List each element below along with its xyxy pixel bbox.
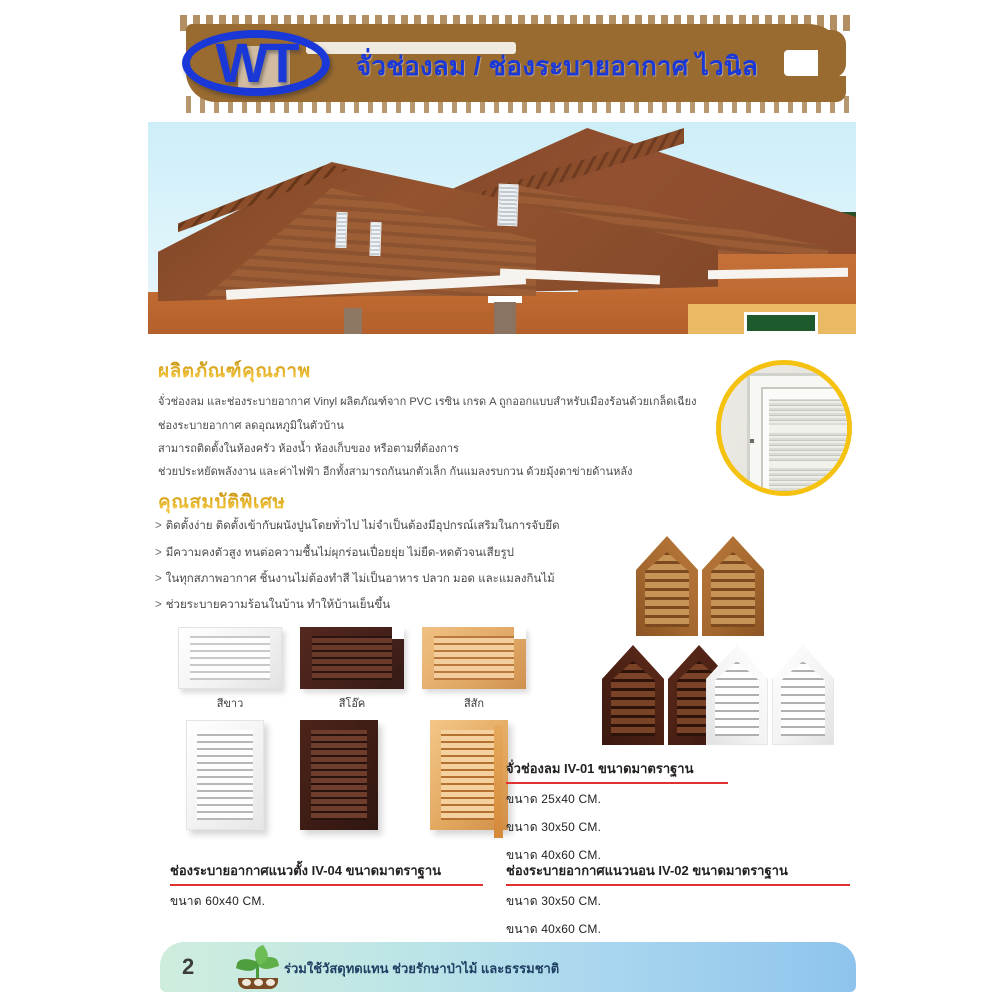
logo-wordmark: WT [174, 34, 338, 92]
vent-louver-slats [434, 636, 514, 680]
quality-line: ช่องระบายอากาศ ลดอุณหภูมิในตัวบ้าน [158, 416, 344, 434]
bullet-icon: > [155, 599, 162, 611]
window [744, 312, 818, 334]
gable-vent-teak [636, 536, 698, 636]
bullet-icon: > [155, 547, 162, 559]
spec-underline [506, 782, 728, 784]
horizontal-vent-white [178, 627, 282, 689]
page-header: จั่วช่องลม / ช่องระบายอากาศ ไวนิล WT [148, 8, 856, 116]
feature-text: ในทุกสภาพอากาศ ชิ้นงานไม่ต้องทำสี ไม่เป็… [166, 573, 555, 585]
quality-line: จั่วช่องลม และช่องระบายอากาศ Vinyl ผลิตภ… [158, 392, 696, 410]
gable-vent-white [772, 645, 834, 745]
swatch-label-teak: สีสัก [422, 694, 526, 712]
spec-block-iv02: ช่องระบายอากาศแนวนอน IV-02 ขนาดมาตราฐาน … [506, 860, 866, 948]
horizontal-vent-teak [422, 627, 526, 689]
installed-vent-rear-gable [497, 184, 518, 227]
spec-title: จั่วช่องลม IV-01 ขนาดมาตราฐาน [506, 758, 756, 782]
feature-text: มีความคงตัวสูง ทนต่อความชื้นไม่ผุกร่อนเป… [166, 547, 514, 559]
soil-pebble [242, 979, 251, 986]
feature-text: ช่วยระบายความร้อนในบ้าน ทำให้บ้านเย็นขึ้… [166, 599, 390, 611]
spec-underline [506, 884, 850, 886]
page-number: 2 [182, 954, 194, 980]
installed-vent-front-gable-right [369, 222, 381, 256]
soil-pebble [254, 979, 263, 986]
swatch-label-white: สีขาว [178, 694, 282, 712]
page-title: จั่วช่องลม / ช่องระบายอากาศ ไวนิล [356, 46, 826, 87]
vent-closeup-inset [716, 360, 852, 496]
vertical-vent-oak [300, 720, 378, 830]
inset-frame-screw [750, 439, 754, 443]
quality-line: สามารถติดตั้งในห้องครัว ห้องน้ำ ห้องเก็บ… [158, 439, 459, 457]
section-heading-quality: ผลิตภัณฑ์คุณภาพ [158, 356, 311, 386]
spec-size-item: ขนาด 30x50 CM. [506, 892, 866, 911]
spec-size-item: ขนาด 30x50 CM. [506, 818, 756, 837]
vent-louver-slats [312, 636, 392, 680]
gable-vent-white [706, 645, 768, 745]
feature-item: >ช่วยระบายความร้อนในบ้าน ทำให้บ้านเย็นขึ… [155, 596, 390, 614]
porch-beam [362, 312, 494, 321]
spec-underline [170, 884, 483, 886]
hero-house-photo [148, 122, 856, 334]
teak-vent-edge-strip [494, 726, 503, 838]
bullet-icon: > [155, 573, 162, 585]
spec-size-item: ขนาด 40x60 CM. [506, 920, 866, 939]
photo-corner-highlight [392, 627, 404, 639]
vent-louver-slats [190, 636, 270, 680]
wt-logo: WT [174, 18, 338, 106]
feature-text: ติดตั้งง่าย ติดตั้งเข้ากับผนังปูนโดยทั่ว… [166, 520, 560, 532]
footer-slogan: ร่วมใช้วัสดุทดแทน ช่วยรักษาป่าไม้ และธรร… [284, 958, 559, 979]
spec-block-iv04: ช่องระบายอากาศแนวตั้ง IV-04 ขนาดมาตราฐาน… [170, 860, 500, 920]
vertical-vent-white [186, 720, 264, 830]
spec-block-iv01: จั่วช่องลม IV-01 ขนาดมาตราฐาน ขนาด 25x40… [506, 758, 756, 874]
feature-item: >ในทุกสภาพอากาศ ชิ้นงานไม่ต้องทำสี ไม่เป… [155, 570, 555, 588]
stone-column [494, 302, 516, 334]
section-heading-features: คุณสมบัติพิเศษ [158, 487, 285, 517]
installed-vent-front-gable-left [335, 212, 347, 248]
stone-column [344, 308, 362, 334]
gable-vent-teak [702, 536, 764, 636]
inset-louver-divider [769, 425, 852, 432]
spec-size-item: ขนาด 60x40 CM. [170, 892, 500, 911]
brush-texture-streak [856, 36, 868, 96]
feature-item: >ติดตั้งง่าย ติดตั้งเข้ากับผนังปูนโดยทั่… [155, 517, 560, 535]
vent-louver-slats [441, 730, 497, 820]
quality-line: ช่วยประหยัดพลังงาน และค่าไฟฟ้า อีกทั้งสา… [158, 462, 633, 480]
page-footer: 2 ร่วมใช้วัสดุทดแทน ช่วยรักษาป่าไม้ และธ… [160, 942, 856, 992]
inset-louver-divider [769, 461, 852, 468]
bullet-icon: > [155, 520, 162, 532]
swatch-label-oak: สีโอ๊ค [300, 694, 404, 712]
spec-size-item: ขนาด 25x40 CM. [506, 790, 756, 809]
gable-vent-oak [602, 645, 664, 745]
vent-louver-slats [197, 730, 253, 820]
catalog-page: จั่วช่องลม / ช่องระบายอากาศ ไวนิล WT ผลิ… [0, 0, 1000, 1000]
inset-louver-slats [769, 399, 852, 496]
feature-item: >มีความคงตัวสูง ทนต่อความชื้นไม่ผุกร่อนเ… [155, 544, 514, 562]
vent-louver-slats [311, 730, 367, 820]
soil-pebble [266, 979, 275, 986]
spec-title: ช่องระบายอากาศแนวนอน IV-02 ขนาดมาตราฐาน [506, 860, 866, 884]
horizontal-vent-oak [300, 627, 404, 689]
photo-corner-highlight [514, 627, 526, 639]
sprout-icon [234, 946, 282, 990]
spec-title: ช่องระบายอากาศแนวตั้ง IV-04 ขนาดมาตราฐาน [170, 860, 500, 884]
